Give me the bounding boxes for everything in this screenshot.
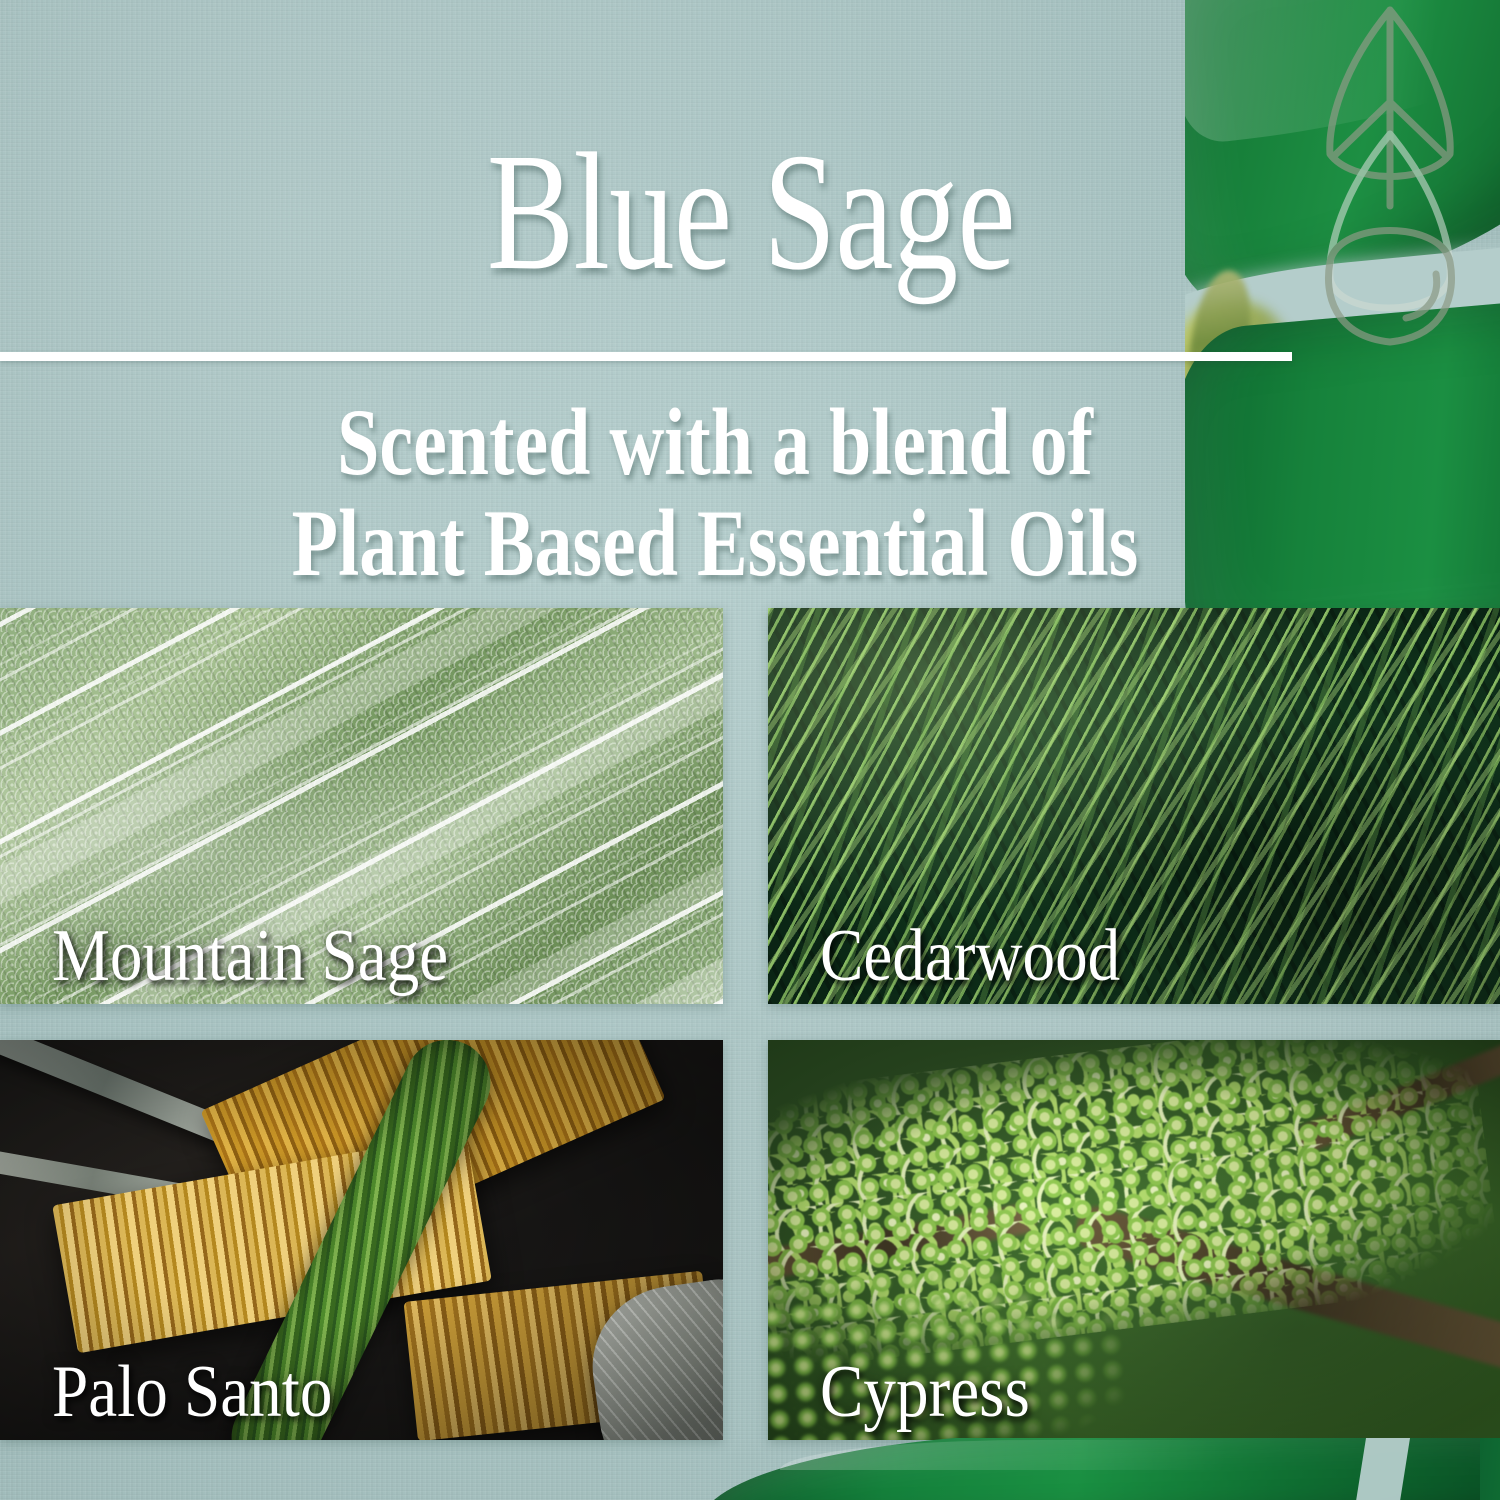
decor-leaf-bottom [660,1438,1500,1500]
ingredient-label-palo-santo: Palo Santo [52,1354,332,1432]
leaf-bottom-sheen [780,1440,1420,1470]
leaf-bottom-tip [1480,1438,1500,1500]
ingredient-tile-cedarwood[interactable]: Cedarwood [768,608,1500,1004]
ingredient-label-mountain-sage: Mountain Sage [52,918,448,996]
ingredient-label-cypress: Cypress [820,1354,1030,1432]
subtitle-line-1: Scented with a blend of [337,389,1093,495]
subtitle-line-2: Plant Based Essential Oils [143,495,1287,592]
page-title: Blue Sage [164,128,1338,296]
ingredient-tile-palo-santo[interactable]: Palo Santo [0,1040,723,1440]
ingredient-label-cedarwood: Cedarwood [820,918,1120,996]
product-feature-graphic: Blue Sage Scented with a blend of Plant … [0,0,1500,1500]
ingredient-tile-mountain-sage[interactable]: Mountain Sage [0,608,723,1004]
title-divider [0,352,1292,361]
subtitle-block: Scented with a blend of Plant Based Esse… [143,394,1287,592]
ingredient-tile-cypress[interactable]: Cypress [768,1040,1500,1440]
